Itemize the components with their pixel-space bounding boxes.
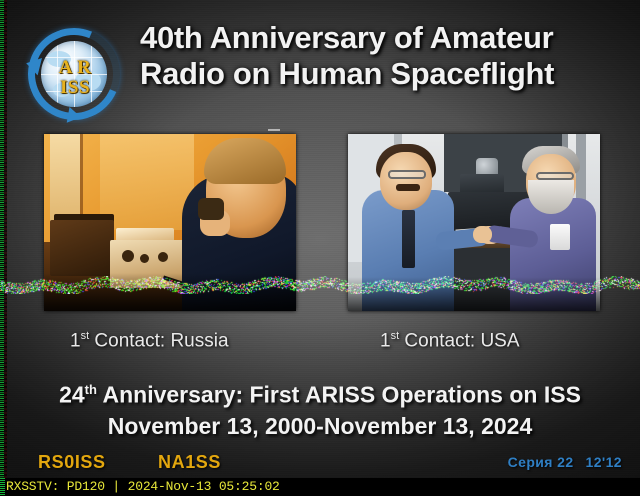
sstv-noise-band [0, 276, 640, 294]
title-line-1: 40th Anniversary of Amateur [140, 20, 632, 56]
caption-right-superscript: st [391, 330, 400, 342]
left-sync-stripe-2 [4, 0, 7, 478]
frame-tick-mark [268, 129, 280, 131]
anniversary-line-2: November 13, 2000-November 13, 2024 [0, 411, 640, 442]
logo-text-iss: ISS [24, 77, 126, 99]
caption-right-prefix: 1 [380, 330, 391, 351]
series-label: Серия 22 [508, 454, 574, 470]
series-info: Серия 2212'12 [508, 454, 622, 470]
ariss-logo: A R ISS [24, 26, 126, 122]
caption-left-superscript: st [81, 330, 90, 342]
status-sync-stripe [0, 478, 5, 496]
caption-right-text: Contact: USA [399, 330, 519, 351]
caption-first-contact-russia: 1st Contact: Russia [70, 330, 229, 352]
logo-arrow-tail-icon [67, 107, 83, 125]
anniversary-text: Anniversary: First ARISS Operations on I… [97, 382, 581, 408]
anniversary-statement: 24th Anniversary: First ARISS Operations… [0, 374, 640, 442]
callsign-rs0iss: RS0ISS [38, 452, 106, 473]
logo-text-ar: A R [24, 57, 126, 79]
anniversary-superscript: th [85, 382, 97, 397]
status-bar: RXSSTV: PD120 | 2024-Nov-13 05:25:02 [0, 478, 640, 496]
series-time: 12'12 [586, 454, 622, 470]
anniversary-line-1: 24th Anniversary: First ARISS Operations… [0, 374, 640, 411]
caption-left-text: Contact: Russia [89, 330, 228, 351]
page-title: 40th Anniversary of Amateur Radio on Hum… [140, 20, 632, 92]
header: A R ISS 40th Anniversary of Amateur Radi… [0, 14, 640, 114]
title-line-2: Radio on Human Spaceflight [140, 56, 632, 92]
callsign-na1ss: NA1SS [158, 452, 221, 473]
caption-first-contact-usa: 1st Contact: USA [380, 330, 520, 352]
sstv-received-image: A R ISS 40th Anniversary of Amateur Radi… [0, 0, 640, 478]
sstv-image-window: A R ISS 40th Anniversary of Amateur Radi… [0, 0, 640, 496]
caption-left-prefix: 1 [70, 330, 81, 351]
status-bar-text: RXSSTV: PD120 | 2024-Nov-13 05:25:02 [6, 479, 280, 495]
anniversary-number: 24 [59, 382, 85, 408]
